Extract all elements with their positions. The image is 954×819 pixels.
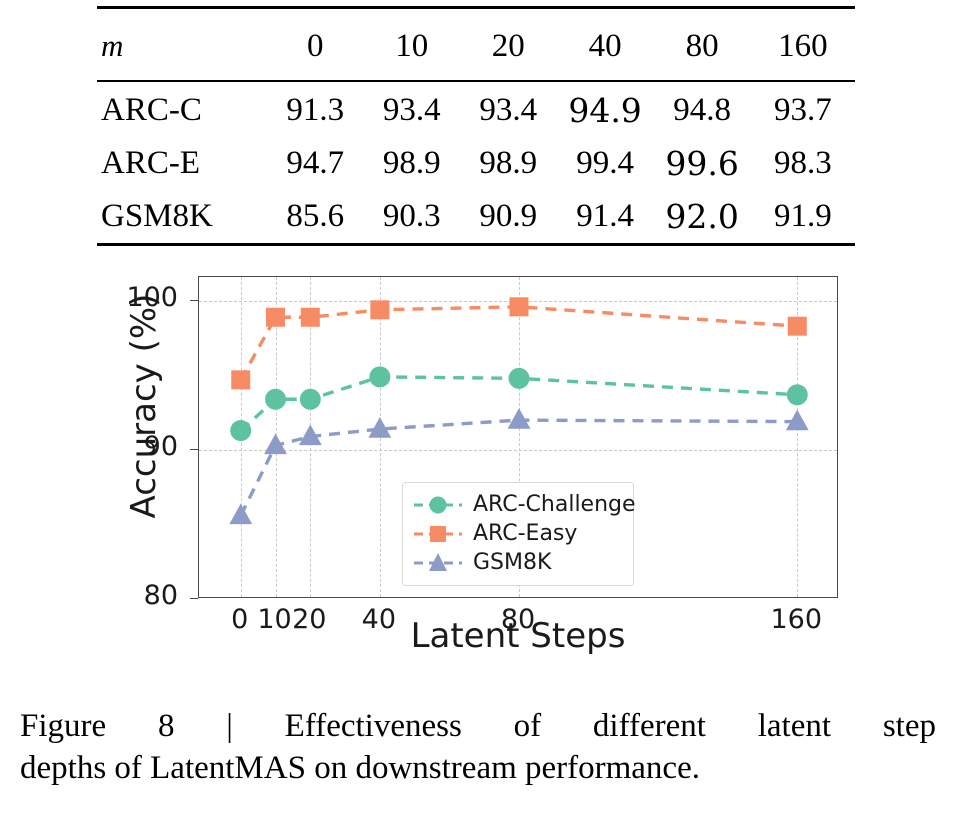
data-point-marker: [230, 420, 251, 441]
data-point-marker: [508, 408, 531, 429]
cell-gsm8k-5: 91.9: [751, 190, 855, 245]
data-point-marker: [369, 366, 390, 387]
row-label-gsm8k: GSM8K: [97, 190, 267, 245]
table-rule-bottom: [97, 245, 855, 250]
cell-gsm8k-3: 91.4: [557, 190, 654, 245]
table-header-col-1: 10: [363, 12, 460, 81]
table-header-col-5: 160: [751, 12, 855, 81]
data-point-marker: [265, 389, 286, 410]
row-label-arc-e: ARC-E: [97, 137, 267, 190]
cell-gsm8k-0: 85.6: [267, 190, 364, 245]
data-point-marker: [370, 300, 389, 319]
table-row: ARC-C 91.3 93.4 93.4 94.9 94.8 93.7: [97, 84, 855, 137]
cell-arc-c-4: 94.8: [654, 84, 751, 137]
table-header-col-4: 80: [654, 12, 751, 81]
cell-arc-e-5: 98.3: [751, 137, 855, 190]
cell-arc-e-3: 99.4: [557, 137, 654, 190]
figure-caption: Figure 8 | Effectiveness of different la…: [20, 705, 936, 789]
cell-arc-c-3: 94.9: [557, 84, 654, 137]
y-tick-mark: [190, 598, 198, 599]
y-tick-label: 80: [98, 580, 178, 611]
cell-arc-c-0: 91.3: [267, 84, 364, 137]
table-row: GSM8K 85.6 90.3 90.9 91.4 92.0 91.9: [97, 190, 855, 245]
legend-item-arc-challenge: ARC-Challenge: [413, 490, 623, 519]
cell-arc-e-4: 99.6: [654, 137, 751, 190]
legend-item-gsm8k: GSM8K: [413, 548, 623, 577]
data-point-marker: [787, 384, 808, 405]
cell-gsm8k-2: 90.9: [460, 190, 557, 245]
data-point-marker: [788, 317, 807, 336]
cell-arc-e-1: 98.9: [363, 137, 460, 190]
y-tick-mark: [190, 300, 198, 301]
cell-arc-e-2: 98.9: [460, 137, 557, 190]
figure-8-chart: Accuracy (%) 8090100010204080160 Latent …: [0, 266, 954, 666]
table-header-col-3: 40: [557, 12, 654, 81]
table-header-row: m 0 10 20 40 80 160: [97, 12, 855, 81]
data-point-marker: [300, 389, 321, 410]
data-point-marker: [229, 504, 252, 525]
cell-arc-c-2: 93.4: [460, 84, 557, 137]
results-table: m 0 10 20 40 80 160 ARC-C 91.3 93.4 93.4…: [97, 6, 855, 249]
data-point-marker: [301, 308, 320, 327]
cell-arc-c-5: 93.7: [751, 84, 855, 137]
latent-steps-table: m 0 10 20 40 80 160 ARC-C 91.3 93.4 93.4…: [97, 6, 855, 249]
y-tick-label: 100: [98, 282, 178, 313]
y-tick-mark: [190, 449, 198, 450]
legend-marker-square-icon: [413, 522, 463, 546]
cell-gsm8k-1: 90.3: [363, 190, 460, 245]
cell-gsm8k-4: 92.0: [654, 190, 751, 245]
legend-label-arc-easy: ARC-Easy: [473, 521, 577, 546]
y-tick-label: 90: [98, 431, 178, 462]
data-point-marker: [231, 370, 250, 389]
table-row: ARC-E 94.7 98.9 98.9 99.4 99.6 98.3: [97, 137, 855, 190]
legend-label-arc-challenge: ARC-Challenge: [473, 492, 636, 517]
legend-item-arc-easy: ARC-Easy: [413, 519, 623, 548]
caption-line-1: Figure 8 | Effectiveness of different la…: [20, 705, 936, 747]
cell-arc-e-0: 94.7: [267, 137, 364, 190]
x-axis-label: Latent Steps: [198, 616, 838, 656]
row-label-arc-c: ARC-C: [97, 84, 267, 137]
caption-line-2: depths of LatentMAS on downstream perfor…: [20, 747, 936, 789]
legend-marker-triangle-icon: [413, 551, 463, 575]
table-header-col-2: 20: [460, 12, 557, 81]
cell-arc-c-1: 93.4: [363, 84, 460, 137]
legend-marker-circle-icon: [413, 493, 463, 517]
data-point-marker: [510, 297, 529, 316]
chart-legend: ARC-Challenge ARC-Easy GSM8K: [402, 482, 634, 586]
data-point-marker: [266, 308, 285, 327]
data-point-marker: [509, 368, 530, 389]
legend-label-gsm8k: GSM8K: [473, 550, 551, 575]
table-header-m: m: [97, 12, 267, 81]
table-header-col-0: 0: [267, 12, 364, 81]
